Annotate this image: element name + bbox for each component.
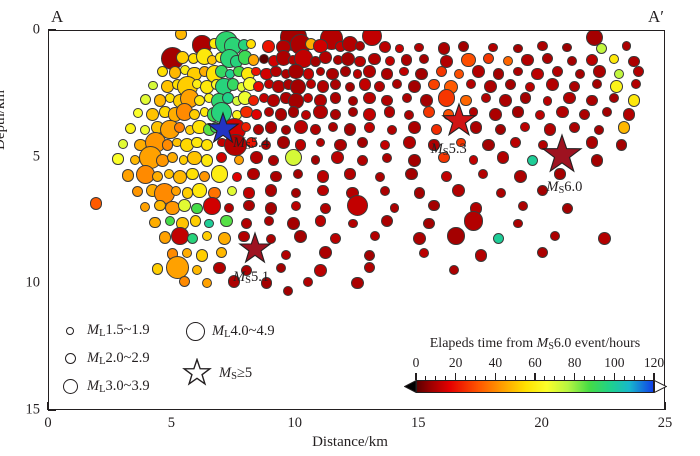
earthquake-point	[165, 216, 175, 226]
colorbar-over-arrow	[654, 380, 667, 393]
magnitude-legend-item: ML2.0~2.9	[60, 350, 150, 367]
earthquake-point	[348, 96, 358, 106]
earthquake-point	[518, 201, 528, 211]
earthquake-point	[461, 53, 475, 67]
earthquake-point	[202, 278, 212, 288]
earthquake-point	[303, 68, 314, 79]
earthquake-point	[419, 54, 429, 64]
earthquake-point	[213, 262, 226, 275]
earthquake-point	[167, 152, 178, 163]
earthquake-point	[179, 276, 190, 287]
earthquake-point	[478, 169, 488, 179]
earthquake-point	[586, 136, 599, 149]
earthquake-point	[575, 69, 585, 79]
earthquake-point	[218, 232, 231, 245]
earthquake-point	[250, 151, 263, 164]
earthquake-point	[419, 248, 429, 258]
x-tick-label: 20	[534, 415, 549, 432]
earthquake-point	[357, 137, 368, 148]
earthquake-point	[334, 139, 347, 152]
earthquake-point	[317, 185, 328, 196]
earthquake-point	[203, 197, 220, 214]
earthquake-point	[171, 227, 188, 244]
earthquake-point	[579, 109, 590, 120]
earthquake-point	[294, 230, 307, 243]
earthquake-point	[162, 139, 173, 150]
earthquake-point	[408, 121, 421, 134]
earthquake-point	[285, 149, 302, 166]
earthquake-point	[415, 68, 428, 81]
earthquake-point	[513, 44, 522, 53]
earthquake-point	[525, 82, 535, 92]
earthquake-point	[610, 80, 623, 93]
earthquake-point	[345, 82, 355, 92]
earthquake-point	[201, 154, 214, 167]
earthquake-point	[586, 95, 597, 106]
colorbar-gradient	[416, 380, 654, 393]
earthquake-point	[364, 122, 375, 133]
mainshock-star	[540, 133, 584, 177]
earthquake-point	[202, 231, 212, 241]
y-tick-label: 10	[8, 275, 40, 292]
earthquake-point	[246, 39, 256, 49]
earthquake-point	[267, 94, 280, 107]
earthquake-point	[546, 78, 559, 91]
earthquake-point	[596, 43, 607, 54]
earthquake-point	[262, 40, 275, 53]
earthquake-point	[395, 44, 404, 53]
earthquake-point	[628, 94, 641, 107]
magnitude-legend-circle	[66, 327, 74, 335]
earthquake-point	[243, 200, 254, 211]
earthquake-point	[598, 232, 611, 245]
earthquake-point	[495, 124, 506, 135]
earthquake-point	[483, 53, 494, 64]
earthquake-point	[344, 168, 355, 179]
earthquake-point	[112, 153, 123, 164]
earthquake-point	[618, 121, 631, 134]
earthquake-point	[216, 152, 227, 163]
x-tick-label: 0	[44, 415, 51, 432]
earthquake-point	[423, 106, 436, 119]
earthquake-point	[531, 68, 544, 81]
x-tick-label: 10	[288, 415, 303, 432]
earthquake-point	[382, 153, 392, 163]
earthquake-point	[351, 277, 364, 290]
earthquake-point	[370, 231, 380, 241]
earthquake-point	[403, 136, 416, 149]
earthquake-point	[248, 95, 259, 106]
earthquake-point	[381, 215, 394, 228]
earthquake-point	[241, 122, 251, 132]
earthquake-point	[264, 107, 274, 117]
earthquake-point	[146, 108, 159, 121]
earthquake-point	[550, 231, 560, 241]
earthquake-point	[384, 106, 395, 117]
earthquake-point	[436, 66, 447, 77]
earthquake-point	[466, 79, 476, 89]
earthquake-point	[175, 31, 186, 40]
earthquake-point	[368, 53, 381, 66]
earthquake-point	[567, 56, 577, 66]
earthquake-point	[157, 66, 168, 77]
earthquake-point	[270, 171, 281, 182]
colorbar-tick-major	[534, 373, 535, 380]
earthquake-point	[390, 203, 400, 213]
earthquake-point	[464, 211, 483, 230]
earthquake-point	[458, 41, 469, 52]
figure-canvas: A A′ Distance/km Depth/km 05101520250510…	[0, 0, 700, 456]
colorbar-title: Elapeds time from MS6.0 event/hours	[404, 336, 666, 352]
earthquake-point	[503, 56, 513, 66]
earthquake-point	[493, 68, 504, 79]
earthquake-point	[622, 41, 632, 51]
colorbar-tick-major	[653, 373, 654, 380]
earthquake-point	[423, 218, 434, 229]
earthquake-point	[253, 81, 264, 92]
earthquake-point	[344, 123, 357, 136]
earthquake-point	[488, 43, 498, 53]
earthquake-point	[484, 80, 497, 93]
colorbar-tick-major	[455, 373, 456, 380]
earthquake-point	[569, 122, 580, 133]
earthquake-point	[357, 155, 368, 166]
earthquake-point	[404, 110, 414, 120]
magnitude-legend-item: ML1.5~1.9	[60, 322, 150, 339]
earthquake-point	[275, 108, 288, 121]
magnitude-legend-circle	[186, 322, 205, 341]
mainshock-star	[440, 102, 478, 140]
earthquake-point	[375, 172, 385, 182]
earthquake-point	[520, 92, 531, 103]
earthquake-point	[510, 137, 521, 148]
earthquake-point	[623, 108, 636, 121]
earthquake-point	[355, 41, 365, 51]
colorbar-tick-major	[415, 373, 416, 380]
earthquake-point	[118, 139, 128, 149]
earthquake-point	[227, 186, 237, 196]
earthquake-point	[609, 93, 619, 103]
earthquake-point	[90, 197, 103, 210]
earthquake-point	[265, 121, 278, 134]
earthquake-point	[413, 232, 426, 245]
earthquake-point	[234, 155, 244, 165]
earthquake-point	[469, 155, 479, 165]
earthquake-point	[341, 52, 355, 66]
earthquake-point	[316, 138, 326, 148]
earthquake-point	[270, 66, 281, 77]
earthquake-point	[182, 187, 193, 198]
earthquake-point	[288, 106, 299, 117]
earthquake-point	[414, 187, 425, 198]
earthquake-point	[408, 154, 421, 167]
earthquake-point	[556, 106, 569, 119]
magnitude-legend-label: ML2.0~2.9	[87, 350, 150, 367]
earthquake-point	[140, 202, 150, 212]
earthquake-point	[631, 79, 641, 89]
earthquake-point	[513, 219, 523, 229]
earthquake-point	[281, 125, 291, 135]
earthquake-point	[211, 165, 228, 182]
mainshock-star	[237, 231, 273, 267]
earthquake-point	[420, 94, 433, 107]
colorbar-tick-major	[495, 373, 496, 380]
earthquake-point	[535, 110, 545, 120]
earthquake-point	[176, 51, 189, 64]
earthquake-point	[472, 65, 485, 78]
earthquake-point	[512, 106, 523, 117]
earthquake-point	[317, 170, 330, 183]
earthquake-point	[303, 277, 313, 287]
earthquake-point	[330, 79, 341, 90]
earthquake-point	[152, 263, 163, 274]
earthquake-point	[306, 79, 316, 89]
colorbar-tick-label: 120	[644, 355, 664, 371]
colorbar-tick-label: 60	[528, 355, 542, 371]
earthquake-point	[340, 66, 351, 77]
magnitude-legend-item: ML3.0~3.9	[60, 378, 150, 395]
earthquake-point	[314, 264, 327, 277]
earthquake-point	[189, 109, 200, 120]
y-tick-label: 0	[8, 22, 40, 39]
earthquake-point	[291, 188, 301, 198]
earthquake-point	[320, 203, 331, 214]
earthquake-point	[562, 43, 572, 53]
earthquake-point	[497, 151, 510, 164]
earthquake-point	[347, 195, 368, 216]
earthquake-point	[379, 41, 391, 53]
earthquake-point	[586, 54, 598, 66]
colorbar-tick-label: 80	[568, 355, 582, 371]
earthquake-point	[173, 170, 187, 184]
earthquake-point	[301, 110, 311, 120]
x-tick-label: 25	[658, 415, 673, 432]
earthquake-point	[514, 170, 527, 183]
earthquake-point	[353, 69, 363, 79]
earthquake-point	[537, 247, 548, 258]
earthquake-point	[380, 186, 390, 196]
colorbar-tick-major	[574, 373, 575, 380]
earthquake-point	[251, 109, 262, 120]
earthquake-point	[182, 248, 192, 258]
earthquake-point	[348, 219, 358, 229]
earthquake-point	[187, 151, 201, 165]
earthquake-point	[380, 140, 390, 150]
earthquake-point	[316, 67, 326, 77]
magnitude-legend-item: ML4.0~4.9	[185, 322, 275, 341]
earthquake-point	[543, 96, 553, 106]
earthquake-point	[405, 168, 418, 181]
earthquake-point	[489, 108, 502, 121]
earthquake-point	[317, 80, 330, 93]
earthquake-point	[330, 92, 341, 103]
magnitude-legend-star-label: MS≥5	[219, 365, 252, 382]
earthquake-point	[268, 155, 279, 166]
colorbar-under-arrow	[404, 380, 416, 393]
earthquake-point	[133, 108, 143, 118]
earthquake-point	[125, 123, 136, 134]
earthquake-point	[232, 172, 242, 182]
magnitude-legend-circle	[63, 379, 78, 394]
earthquake-point	[264, 216, 274, 226]
earthquake-point	[402, 93, 412, 103]
earthquake-point	[283, 286, 293, 296]
earthquake-point	[449, 265, 459, 275]
earthquake-point	[152, 171, 163, 182]
y-tick-label: 15	[8, 402, 40, 419]
earthquake-point	[315, 215, 326, 226]
earthquake-point	[265, 184, 278, 197]
earthquake-point	[408, 80, 421, 93]
earthquake-point	[602, 107, 612, 117]
x-tick-label: 5	[168, 415, 175, 432]
mainshock-label: MS5.4	[233, 135, 269, 152]
y-axis-label: Depth/km	[0, 90, 9, 150]
mainshock-label: MS5.3	[431, 141, 467, 158]
earthquake-point	[562, 203, 573, 214]
earthquake-point	[220, 215, 233, 228]
earthquake-point	[399, 67, 409, 77]
earthquake-point	[428, 200, 439, 211]
earthquake-point	[178, 199, 191, 212]
earthquake-point	[542, 53, 553, 64]
earthquake-point	[276, 263, 286, 273]
section-start-label: A	[51, 8, 63, 25]
earthquake-point	[132, 186, 143, 197]
earthquake-point	[521, 54, 534, 67]
earthquake-point	[354, 56, 365, 67]
earthquake-point	[140, 94, 151, 105]
mainshock-label: MS6.0	[546, 179, 582, 196]
earthquake-point	[224, 203, 234, 213]
earthquake-point	[331, 151, 344, 164]
earthquake-point	[290, 79, 306, 95]
y-tick-label: 5	[8, 148, 40, 165]
earthquake-point	[441, 171, 452, 182]
magnitude-legend-label: ML4.0~4.9	[212, 323, 275, 340]
earthquake-point	[633, 66, 644, 77]
earthquake-point	[520, 122, 530, 132]
earthquake-point	[277, 136, 290, 149]
earthquake-point	[294, 120, 308, 134]
earthquake-point	[454, 69, 464, 79]
colorbar-tick-label: 40	[489, 355, 503, 371]
earthquake-point	[387, 125, 397, 135]
earthquake-point	[149, 217, 160, 228]
earthquake-point	[609, 54, 619, 64]
earthquake-point	[288, 64, 304, 80]
earthquake-point	[328, 122, 338, 132]
colorbar-tick-marks	[416, 373, 654, 380]
earthquake-point	[499, 94, 512, 107]
x-axis-label: Distance/km	[0, 434, 700, 451]
earthquake-point	[192, 183, 206, 197]
colorbar-tick-major	[614, 373, 615, 380]
earthquake-point	[381, 95, 392, 106]
earthquake-point	[475, 249, 488, 262]
earthquake-point	[122, 169, 135, 182]
earthquake-point	[438, 42, 451, 55]
earthquake-point	[265, 202, 278, 215]
earthquake-point	[241, 218, 252, 229]
earthquake-point	[190, 215, 201, 226]
magnitude-legend-circle	[65, 353, 76, 364]
earthquake-point	[187, 233, 198, 244]
earthquake-point	[247, 168, 260, 181]
earthquake-point	[401, 54, 412, 65]
earthquake-point	[537, 41, 548, 52]
earthquake-point	[414, 43, 424, 53]
earthquake-point	[591, 154, 604, 167]
earthquake-point	[381, 68, 392, 79]
earthquake-point	[374, 81, 385, 92]
earthquake-point	[281, 250, 291, 260]
earthquake-point	[594, 125, 604, 135]
earthquake-point	[159, 231, 172, 244]
magnitude-legend-star-item: MS≥5	[182, 358, 252, 388]
earthquake-point	[527, 155, 538, 166]
earthquake-point	[303, 93, 313, 103]
mainshock-label: MS5.1	[233, 269, 269, 286]
earthquake-point	[204, 219, 214, 229]
earthquake-point	[310, 124, 321, 135]
x-tick-label: 15	[411, 415, 426, 432]
earthquake-point	[174, 122, 185, 133]
earthquake-point	[428, 79, 439, 90]
earthquake-point	[171, 186, 181, 196]
earthquake-point	[199, 171, 210, 182]
earthquake-point	[196, 249, 209, 262]
colorbar-tick-label: 100	[604, 355, 624, 371]
earthquake-point	[363, 92, 376, 105]
earthquake-point	[243, 187, 254, 198]
earthquake-point	[216, 247, 227, 258]
colorbar-tick-label: 20	[449, 355, 463, 371]
earthquake-point	[616, 139, 627, 150]
colorbar-legend: Elapeds time from MS6.0 event/hours 0204…	[404, 336, 666, 398]
earthquake-point	[496, 188, 506, 198]
earthquake-point	[293, 169, 303, 179]
earthquake-point	[359, 78, 372, 91]
earthquake-point	[447, 227, 464, 244]
earthquake-point	[330, 109, 341, 120]
earthquake-point	[192, 265, 202, 275]
earthquake-point	[154, 200, 165, 211]
colorbar-tick-label: 0	[413, 355, 420, 371]
earthquake-point	[311, 155, 321, 165]
earthquake-point	[552, 66, 563, 77]
magnitude-legend-label: ML3.0~3.9	[87, 378, 150, 395]
earthquake-point	[513, 67, 523, 77]
earthquake-point	[452, 184, 465, 197]
earthquake-point	[614, 69, 624, 79]
earthquake-point	[385, 56, 395, 66]
earthquake-point	[505, 79, 516, 90]
magnitude-size-legend: ML1.5~1.9ML2.0~2.9ML3.0~3.9ML4.0~4.9MS≥5	[60, 322, 345, 406]
earthquake-point	[563, 92, 576, 105]
magnitude-legend-star	[182, 358, 212, 388]
earthquake-point	[186, 168, 199, 181]
earthquake-point	[319, 246, 332, 259]
colorbar-tick-labels: 020406080100120	[404, 355, 666, 371]
earthquake-point	[313, 105, 327, 119]
earthquake-point	[291, 201, 301, 211]
earthquake-point	[287, 217, 300, 230]
earthquake-point	[482, 139, 495, 152]
earthquake-point	[319, 51, 332, 64]
earthquake-point	[364, 262, 375, 273]
earthquake-point	[165, 201, 179, 215]
